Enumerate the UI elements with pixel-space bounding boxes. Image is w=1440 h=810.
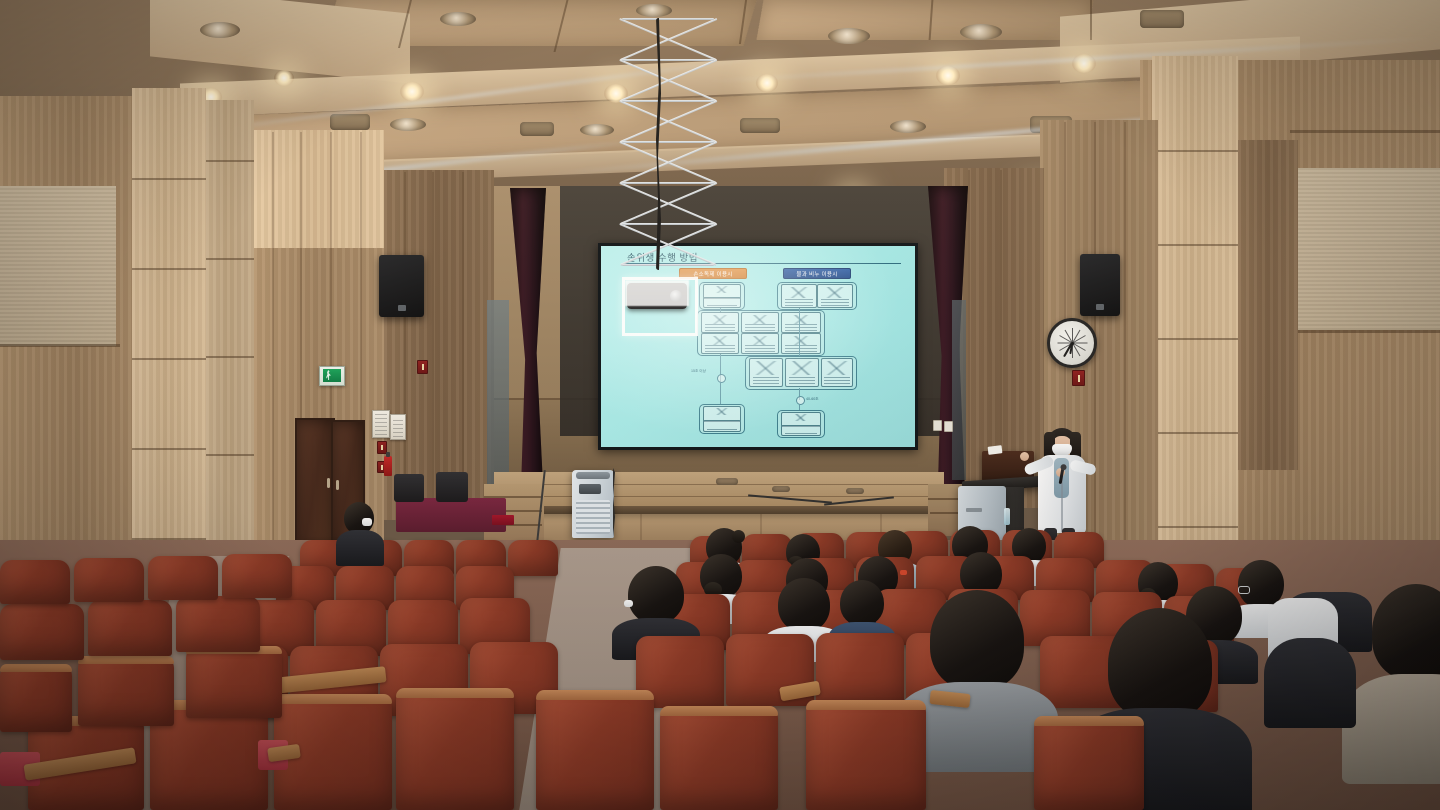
- side-table-cloth: [396, 498, 506, 532]
- fire-alarm-box[interactable]: [1072, 370, 1085, 386]
- water-bottle: [1004, 508, 1010, 525]
- hair-clip: [900, 570, 907, 575]
- lectern-paper: [988, 445, 1003, 455]
- left-wall-acoustic-panel: [0, 186, 116, 346]
- slide-step: [701, 333, 739, 354]
- right-pilaster: [1152, 56, 1238, 616]
- fire-alarm-box[interactable]: [417, 360, 428, 374]
- stage-floor-outlet: [716, 478, 738, 485]
- ceiling-downlight: [400, 82, 424, 101]
- right-wall-dark-panel: [1238, 140, 1298, 470]
- slide-connector: [720, 308, 721, 312]
- seat[interactable]: [816, 633, 904, 705]
- auditorium-photo: 손위생 수행 방법 손소독제 이용시 물과 비누 이용시 15초 이상: [0, 0, 1440, 810]
- ceiling-light-can: [390, 118, 426, 131]
- backstage-doorway-left: [487, 300, 509, 500]
- slide-step: [781, 312, 821, 333]
- slide-connector: [799, 308, 800, 356]
- wall-clock: [1047, 318, 1097, 368]
- slide-step: [781, 333, 821, 354]
- seat[interactable]: [508, 540, 558, 576]
- projection-screen: 손위생 수행 방법 손소독제 이용시 물과 비누 이용시 15초 이상: [598, 243, 918, 450]
- ceiling-vent: [330, 114, 370, 130]
- ceiling-vent: [740, 118, 780, 133]
- slide-step-caption: [781, 425, 821, 436]
- wall-outlet[interactable]: [933, 420, 942, 431]
- ceiling-light-can: [960, 24, 1002, 40]
- slide-step: [749, 358, 783, 387]
- slide-step: [821, 358, 853, 387]
- ceiling-light-can: [580, 124, 614, 136]
- ceiling-light-can: [636, 4, 672, 17]
- slide-step-caption: [703, 420, 741, 432]
- backstage-doorway-right: [952, 300, 966, 480]
- ceiling-downlight: [936, 66, 960, 85]
- slide-step: [741, 333, 779, 354]
- wall-notice-board: [372, 410, 390, 438]
- side-table-chair: [394, 474, 424, 502]
- emergency-exit-sign: [319, 366, 345, 386]
- projector-lift: [620, 18, 716, 268]
- clock-center-pin: [1071, 342, 1074, 345]
- wall-speaker-left: [379, 255, 424, 317]
- slide-connector: [720, 382, 721, 404]
- fire-extinguisher: [384, 456, 392, 476]
- slide-node: [717, 374, 726, 383]
- auditorium-door-left[interactable]: [295, 418, 335, 550]
- ceiling-downlight: [274, 70, 294, 86]
- stage-edge: [494, 506, 944, 514]
- right-wall-acoustic-panel: [1298, 168, 1440, 330]
- ceiling-light-can: [890, 120, 926, 133]
- wall-outlet[interactable]: [944, 421, 953, 432]
- wall-speaker-right: [1080, 254, 1120, 316]
- ceiling-downlight: [1072, 54, 1096, 73]
- slide-step: [817, 284, 853, 308]
- stage-floor-outlet: [772, 486, 790, 492]
- left-stage-wall: [384, 170, 494, 520]
- side-table-chair: [436, 472, 468, 502]
- slide-flow-label: 40-60초: [806, 397, 819, 402]
- table-sign: [492, 515, 514, 525]
- presenter-hand-right: [1020, 452, 1029, 461]
- slide-step: [701, 312, 739, 333]
- ceiling-light-can: [440, 12, 476, 26]
- ceiling-light-can: [828, 28, 870, 44]
- ceiling-downlight: [756, 74, 778, 92]
- slide-flow-label: 15초 이상: [691, 369, 706, 374]
- slide-step: [785, 358, 819, 387]
- slide-node: [796, 396, 805, 405]
- slide-step: [781, 284, 817, 308]
- ceiling-light-can: [200, 22, 240, 38]
- eyeglasses: [1238, 586, 1250, 594]
- ceiling-vent: [1140, 10, 1184, 28]
- wall-notice-board: [390, 414, 406, 440]
- stage-floor-outlet: [846, 488, 864, 494]
- ceiling-vent: [520, 122, 554, 136]
- projector-mount-bracket: [622, 277, 698, 336]
- air-purifier: [572, 470, 614, 538]
- slide-column-header-soap: 물과 비누 이용시: [783, 268, 851, 279]
- left-wall: [0, 96, 150, 616]
- slide-step: [741, 312, 779, 333]
- slide-step-caption: [703, 297, 741, 308]
